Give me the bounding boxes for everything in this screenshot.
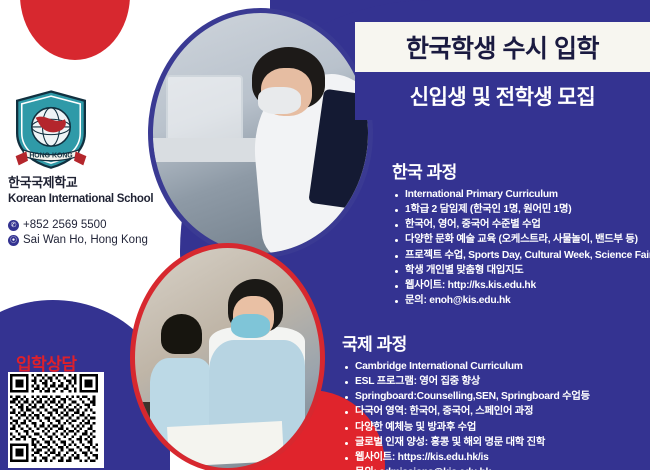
bullet-list-international: Cambridge International Curriculum ESL 프… <box>342 359 648 470</box>
second-student-hair-shape <box>161 314 202 354</box>
contact-phone-text: +852 2569 5500 <box>23 219 106 231</box>
poster-subtitle-band: 신입생 및 전학생 모집 <box>355 72 650 120</box>
school-crest-logo: HONG KONG <box>12 90 90 170</box>
list-item: Cambridge International Curriculum <box>342 359 648 374</box>
lab-bench-shape <box>153 138 265 162</box>
list-item: 글로벌 인재 양성: 홍콩 및 해외 명문 대학 진학 <box>342 435 648 450</box>
section-title-international: 국제 과정 <box>342 330 648 355</box>
list-item: 한국어, 영어, 중국어 수준별 수업 <box>392 217 648 232</box>
drawing-paper-shape <box>167 421 284 467</box>
section-international-curriculum: 국제 과정 Cambridge International Curriculum… <box>342 330 648 470</box>
list-item-website[interactable]: 웹사이트: http://ks.kis.edu.hk <box>392 278 648 293</box>
page-subtitle: 신입생 및 전학생 모집 <box>410 81 595 111</box>
poster-title-band: 한국학생 수시 입학 <box>355 22 650 72</box>
section-korean-curriculum: 한국 과정 International Primary Curriculum 1… <box>392 158 648 308</box>
qr-code[interactable] <box>8 372 104 468</box>
school-name-korean: 한국국제학교 <box>8 176 153 191</box>
contact-address-row[interactable]: ⦿ Sai Wan Ho, Hong Kong <box>8 234 148 246</box>
page-title: 한국학생 수시 입학 <box>406 29 599 65</box>
list-item: 학생 개인별 맞춤형 대입지도 <box>392 263 648 278</box>
qr-code-icon <box>10 374 98 462</box>
school-name-english: Korean International School <box>8 192 153 206</box>
art-student-mask-shape <box>231 314 270 338</box>
contact-address-text: Sai Wan Ho, Hong Kong <box>23 234 148 246</box>
photo-science-lab-student <box>148 8 373 258</box>
crest-banner-text: HONG KONG <box>29 153 72 160</box>
list-item: 다국어 영역: 한국어, 중국어, 스페인어 과정 <box>342 404 648 419</box>
admissions-poster: 한국학생 수시 입학 신입생 및 전학생 모집 HONG KONG 한국국제학교… <box>0 0 650 470</box>
list-item-email[interactable]: 문의: enoh@kis.edu.hk <box>392 293 648 308</box>
school-name-block: 한국국제학교 Korean International School <box>8 176 153 206</box>
face-mask-shape <box>258 87 301 113</box>
contact-phone-row[interactable]: ✆ +852 2569 5500 <box>8 219 148 231</box>
phone-icon: ✆ <box>8 220 19 231</box>
contact-info-block: ✆ +852 2569 5500 ⦿ Sai Wan Ho, Hong Kong <box>8 219 148 249</box>
list-item: ESL 프로그램: 영어 집중 향상 <box>342 374 648 389</box>
list-item: 다양한 문화 예술 교육 (오케스트라, 사물놀이, 밴드부 등) <box>392 232 648 247</box>
location-pin-icon: ⦿ <box>8 235 19 246</box>
list-item: 프로젝트 수업, Sports Day, Cultural Week, Scie… <box>392 248 648 263</box>
list-item: 1학급 2 담임제 (한국인 1명, 원어민 1명) <box>392 202 648 217</box>
red-accent-shape-top-left <box>20 0 130 60</box>
section-title-korean: 한국 과정 <box>392 158 648 183</box>
list-item-email[interactable]: 문의: admissions@kis.edu.hk <box>342 465 648 470</box>
list-item: Springboard:Counselling,SEN, Springboard… <box>342 389 648 404</box>
photo-art-class-students <box>130 243 325 470</box>
list-item: International Primary Curriculum <box>392 187 648 202</box>
list-item-website[interactable]: 웹사이트: https://kis.edu.hk/is <box>342 450 648 465</box>
crest-icon: HONG KONG <box>12 90 90 170</box>
bullet-list-korean: International Primary Curriculum 1학급 2 담… <box>392 187 648 308</box>
list-item: 다양한 예체능 및 방과후 수업 <box>342 420 648 435</box>
